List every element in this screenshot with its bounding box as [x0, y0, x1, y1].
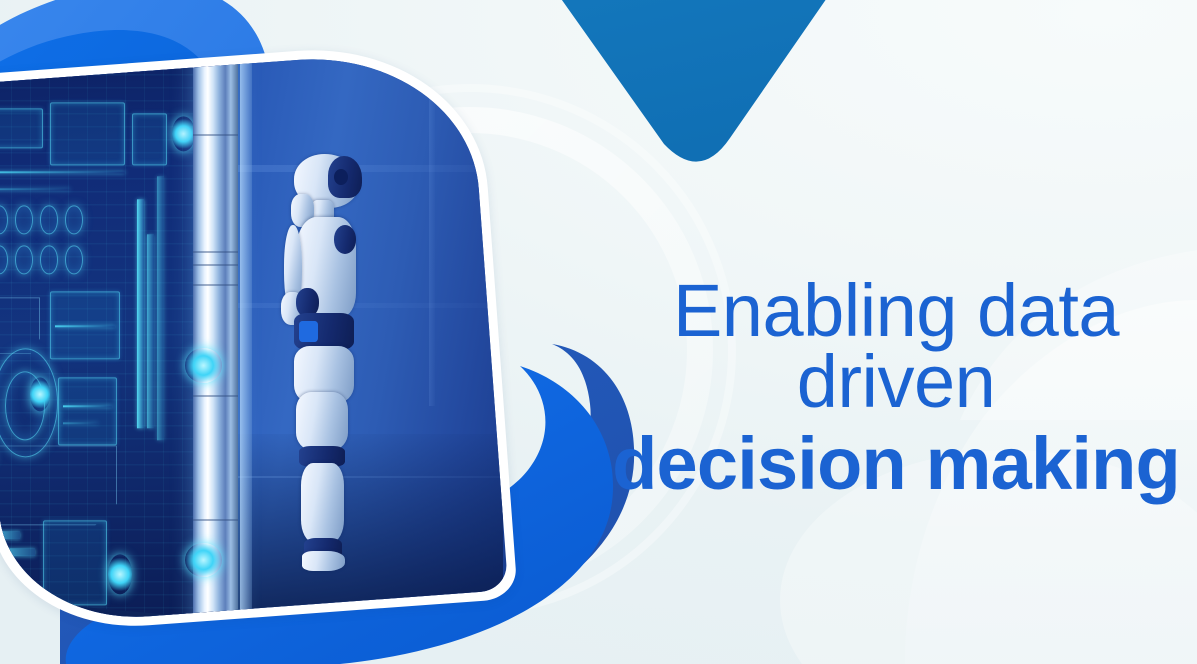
- robot-thinking-tech-panel-photo: [0, 51, 503, 623]
- pillar-glow: [185, 543, 222, 577]
- headline-line-3: decision making: [546, 427, 1197, 500]
- metallic-pillar-secondary: [240, 51, 252, 623]
- humanoid-robot: [259, 154, 402, 572]
- robot-photo-frame: [0, 56, 498, 618]
- headline-block: Enabling data driven decision making: [546, 274, 1197, 500]
- photo-room-beam: [429, 85, 435, 405]
- photo-clip-mask: [0, 47, 508, 626]
- top-center-rounded-blue-shape: [539, 0, 846, 162]
- hud-data-panel: [0, 51, 222, 620]
- marketing-banner: Enabling data driven decision making: [0, 0, 1197, 664]
- pillar-glow: [185, 348, 222, 382]
- headline-line-1: Enabling data: [546, 274, 1197, 347]
- headline-line-2: driven: [546, 345, 1197, 418]
- metallic-pillar: [193, 51, 238, 623]
